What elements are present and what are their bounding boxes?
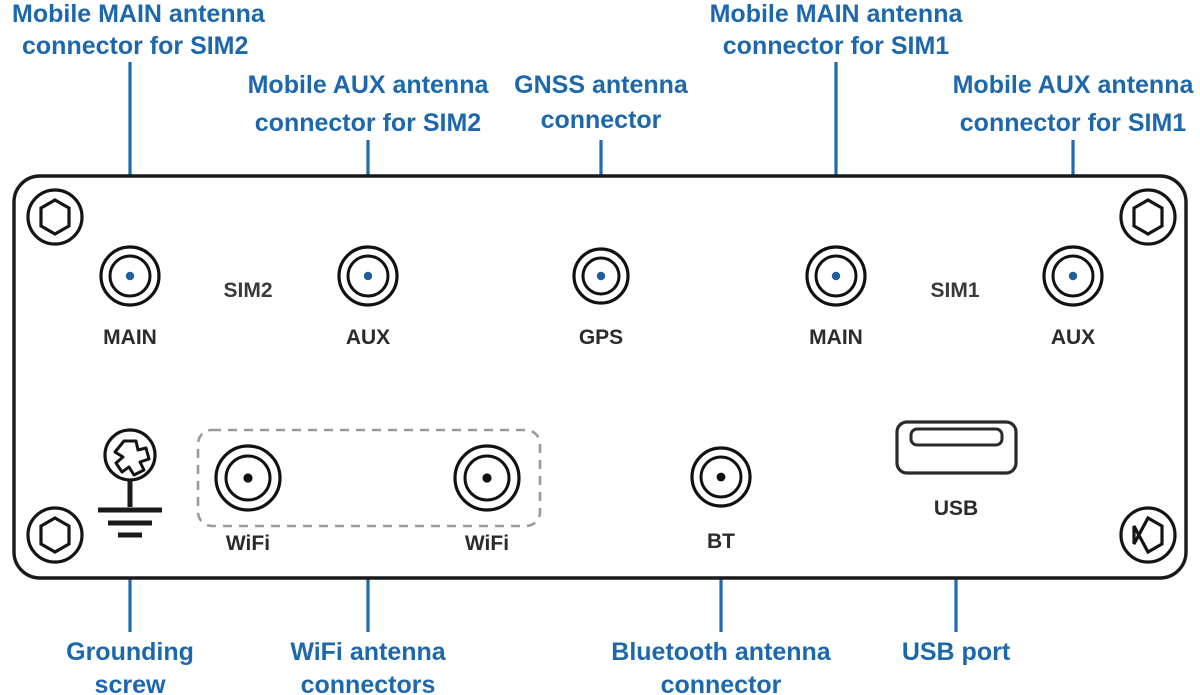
callout-grounding-line1: Grounding <box>66 638 194 666</box>
connector-aux-sim2[interactable] <box>339 247 397 305</box>
callout-bluetooth-line1: Bluetooth antenna <box>611 638 832 666</box>
callout-wifi-line1: WiFi antenna <box>290 638 446 666</box>
rear-panel-diagram: MAIN AUX GPS MAIN AUX SIM2 SIM1 WiFi <box>0 0 1200 695</box>
connector-gps[interactable] <box>574 249 628 303</box>
callout-main-sim1: Mobile MAIN antenna connector for SIM1 <box>710 0 964 60</box>
panel-label-main-sim2: MAIN <box>103 326 157 349</box>
callout-main-sim2: Mobile MAIN antenna connector for SIM2 <box>12 0 266 60</box>
connector-main-sim2[interactable] <box>101 247 159 305</box>
group-label-sim1: SIM1 <box>930 279 979 302</box>
device-body <box>14 176 1186 578</box>
callout-gnss: GNSS antenna connector <box>514 71 689 134</box>
connector-center-dot <box>597 272 605 280</box>
connector-aux-sim1[interactable] <box>1044 247 1102 305</box>
callout-aux-sim1: Mobile AUX antenna connector for SIM1 <box>953 71 1195 137</box>
panel-label-wifi-right: WiFi <box>465 532 509 555</box>
panel-label-bt: BT <box>707 530 735 553</box>
callout-main-sim2-line2: connector for SIM2 <box>22 32 248 60</box>
callout-wifi-line2: connectors <box>301 671 436 695</box>
panel-label-gps: GPS <box>579 326 623 349</box>
callout-usb-line1: USB port <box>902 638 1011 666</box>
callout-bluetooth-line2: connector <box>661 671 782 695</box>
connector-center-dot <box>482 473 491 482</box>
callout-bluetooth: Bluetooth antenna connector <box>611 638 832 695</box>
panel-label-wifi-left: WiFi <box>226 532 270 555</box>
callout-usb: USB port <box>902 638 1011 666</box>
group-label-sim2: SIM2 <box>223 279 272 302</box>
callout-aux-sim2-line1: Mobile AUX antenna <box>248 71 490 99</box>
connector-center-dot <box>1069 272 1077 280</box>
panel-label-aux-sim2: AUX <box>346 326 390 349</box>
connector-bt[interactable] <box>692 448 750 506</box>
callout-main-sim1-line2: connector for SIM1 <box>723 32 950 60</box>
usb-port-slot <box>911 429 1002 445</box>
connector-main-sim1[interactable] <box>807 247 865 305</box>
corner-screw-top-left <box>28 190 82 244</box>
panel-label-usb: USB <box>934 497 978 520</box>
callout-aux-sim2-line2: connector for SIM2 <box>255 109 481 137</box>
connector-wifi-right[interactable] <box>455 446 519 510</box>
connector-center-dot <box>126 272 134 280</box>
callout-main-sim2-line1: Mobile MAIN antenna <box>12 0 266 28</box>
callout-aux-sim2: Mobile AUX antenna connector for SIM2 <box>248 71 490 137</box>
corner-screw-bottom-left <box>28 508 82 562</box>
callout-aux-sim1-line1: Mobile AUX antenna <box>953 71 1195 99</box>
callout-wifi: WiFi antenna connectors <box>290 638 446 695</box>
corner-screw-bottom-right <box>1121 508 1175 562</box>
connector-wifi-left[interactable] <box>216 446 280 510</box>
callout-gnss-line2: connector <box>541 106 662 134</box>
panel-label-main-sim1: MAIN <box>809 326 863 349</box>
usb-port[interactable] <box>897 422 1016 473</box>
panel-label-aux-sim1: AUX <box>1051 326 1095 349</box>
connector-center-dot <box>717 473 726 482</box>
callout-gnss-line1: GNSS antenna <box>514 71 689 99</box>
callout-grounding: Grounding screw <box>66 638 194 695</box>
callout-aux-sim1-line2: connector for SIM1 <box>960 109 1187 137</box>
callout-grounding-line2: screw <box>95 671 166 695</box>
callout-main-sim1-line1: Mobile MAIN antenna <box>710 0 964 28</box>
connector-center-dot <box>832 272 840 280</box>
diagram-canvas: MAIN AUX GPS MAIN AUX SIM2 SIM1 WiFi <box>0 0 1200 695</box>
corner-screw-top-right <box>1121 190 1175 244</box>
connector-center-dot <box>364 272 372 280</box>
connector-center-dot <box>243 473 252 482</box>
